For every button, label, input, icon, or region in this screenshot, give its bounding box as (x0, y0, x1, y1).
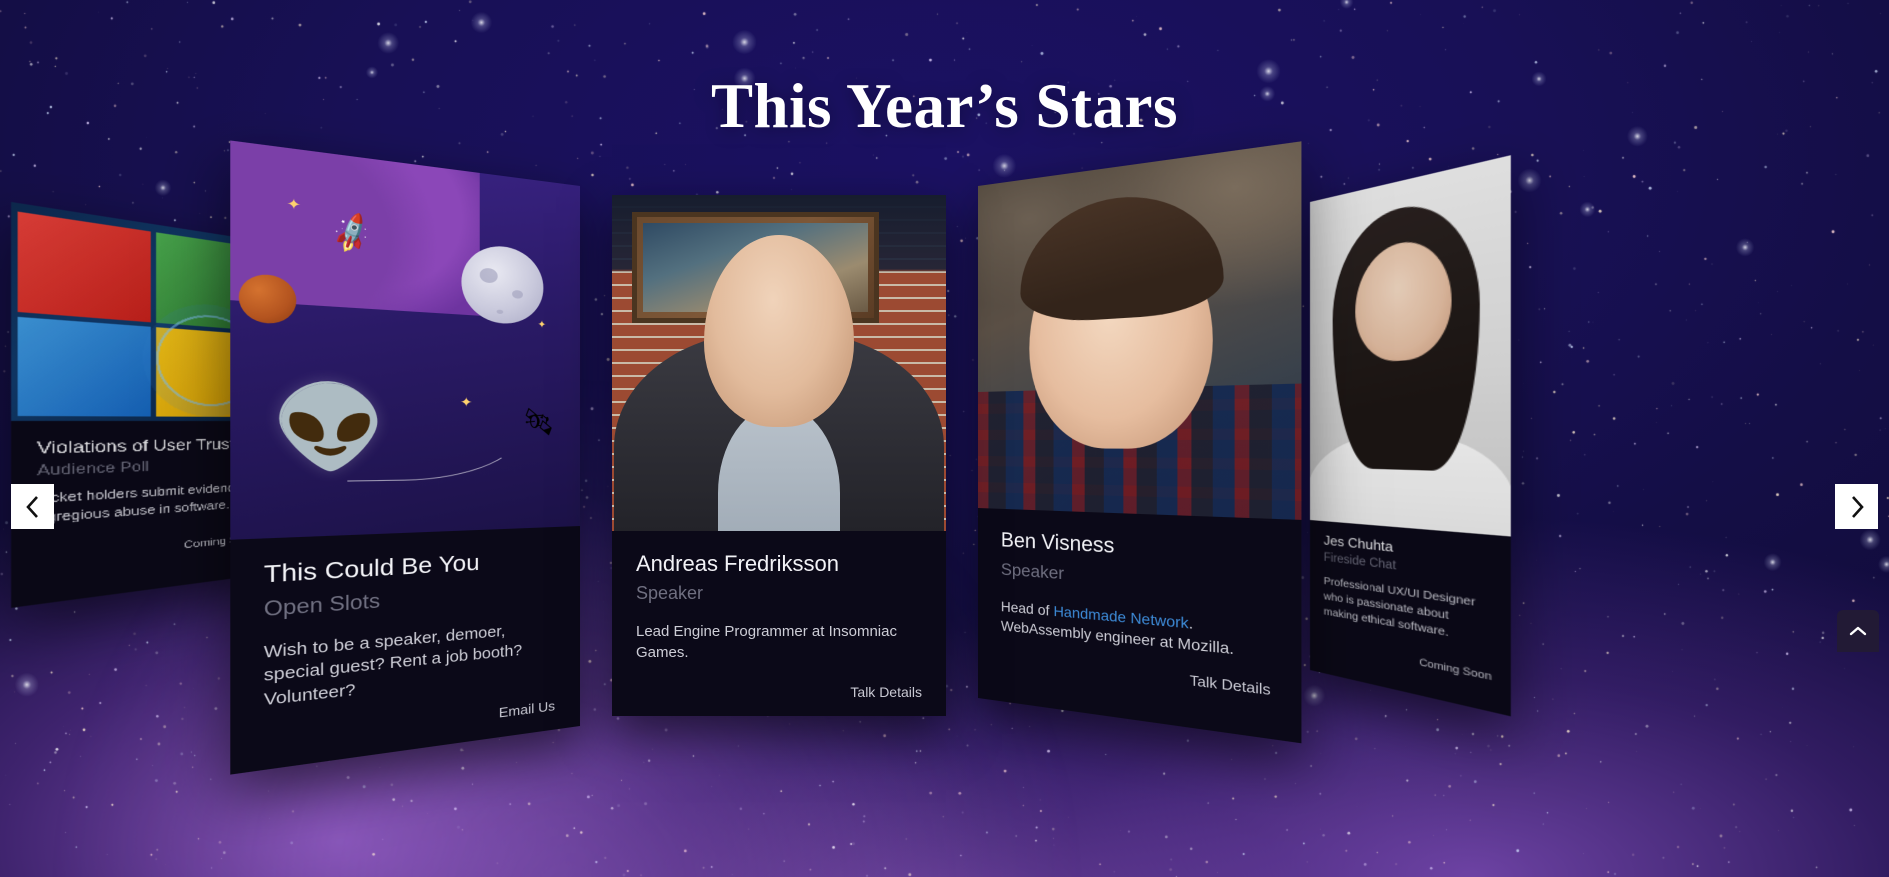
speaker-card[interactable]: 🚀 👽 🛰 ✦ ✦ ✦ This Could Be You Open Slots… (230, 140, 580, 774)
carousel-prev-button[interactable] (11, 484, 54, 529)
card-body: Jes Chuhta Fireside Chat Professional UX… (1310, 520, 1511, 716)
page-title: This Year’s Stars (0, 70, 1889, 143)
card-media (612, 195, 946, 531)
card-cta[interactable]: Coming Soon (37, 532, 256, 566)
card-description: Lead Engine Programmer at Insomniac Game… (636, 621, 922, 664)
speaker-card[interactable]: Ben Visness Speaker Head of Handmade Net… (978, 141, 1301, 743)
card-description: Professional UX/UI Designer who is passi… (1324, 574, 1492, 649)
astronaut-illustration: 🚀 👽 🛰 ✦ ✦ ✦ (230, 140, 580, 539)
card-body: Ben Visness Speaker Head of Handmade Net… (978, 508, 1301, 743)
card-media (1310, 155, 1511, 536)
card-cta[interactable]: Talk Details (636, 684, 922, 700)
carousel-next-button[interactable] (1835, 484, 1878, 529)
speaker-card-featured[interactable]: Andreas Fredriksson Speaker Lead Engine … (612, 195, 946, 716)
card-role: Speaker (636, 583, 922, 604)
card-body: This Could Be You Open Slots Wish to be … (230, 526, 580, 774)
card-media (978, 141, 1301, 520)
card-media: 🚀 👽 🛰 ✦ ✦ ✦ (230, 140, 580, 539)
astronaut-icon: 👽 (271, 377, 387, 475)
desc-text-before: Head of (1001, 597, 1054, 618)
card-description: Wish to be a speaker, demoer, special gu… (264, 617, 555, 713)
card-name: Violations of User Trust (37, 435, 256, 457)
card-description: Ticket holders submit evidence of egregi… (37, 480, 256, 529)
chevron-right-icon (1848, 494, 1866, 520)
speaker-card[interactable]: Jes Chuhta Fireside Chat Professional UX… (1310, 155, 1511, 716)
chevron-left-icon (24, 494, 42, 520)
card-body: Andreas Fredriksson Speaker Lead Engine … (612, 531, 946, 716)
card-name: Andreas Fredriksson (636, 551, 922, 576)
card-role: Audience Poll (37, 456, 256, 480)
chevron-up-icon (1848, 624, 1868, 638)
scroll-to-top-button[interactable] (1837, 610, 1879, 652)
space-background: This Year’s Stars Violations of User Tru… (0, 0, 1889, 877)
